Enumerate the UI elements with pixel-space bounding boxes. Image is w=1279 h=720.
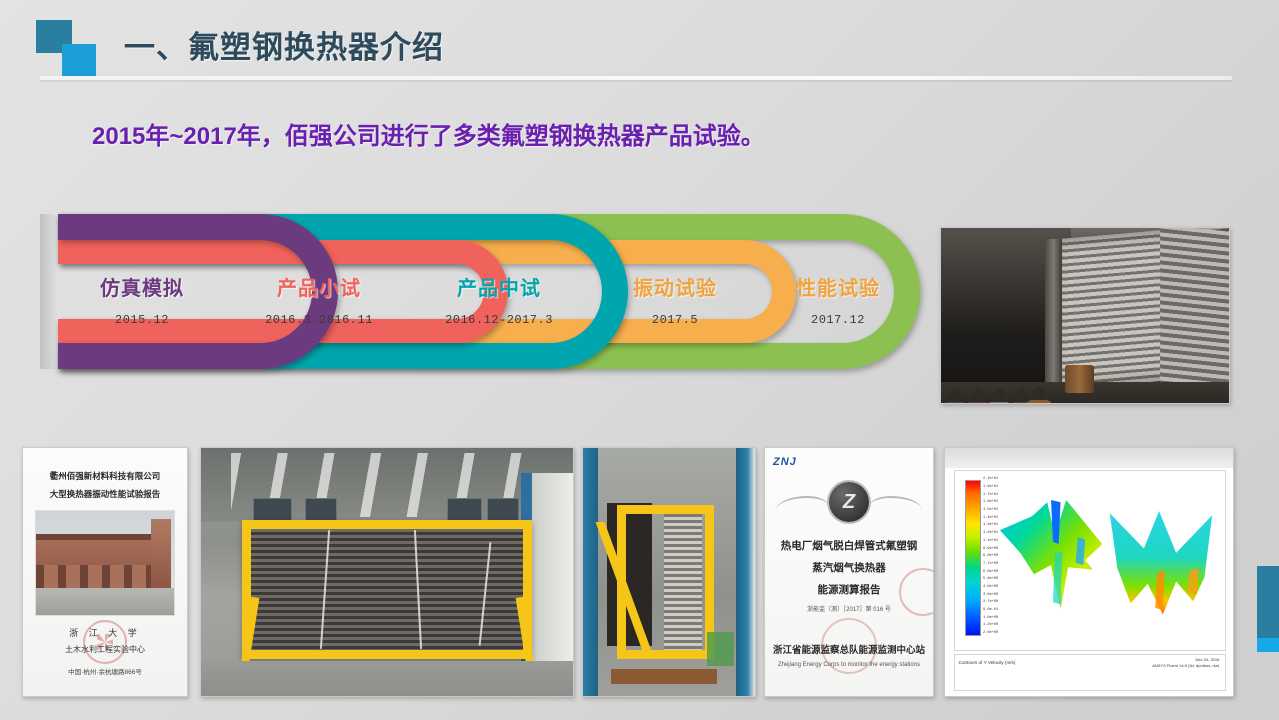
flow-step-4-label: 振动试验	[595, 272, 755, 301]
cfd-tick: 9.0e-01	[983, 609, 998, 613]
photo-inspection-exchanger-plates-2	[1160, 227, 1229, 400]
edge-accent-teal	[1257, 566, 1279, 638]
cfd-tick: 1.6e+01	[983, 501, 998, 505]
photo-rig-side-door-left	[583, 448, 598, 696]
cfd-footer-meta: Dec 20, 2016 ANSYS Fluent 14.5 (3d, dp/d…	[1152, 657, 1219, 669]
cfd-tick: 9.9e+00	[983, 548, 998, 552]
photo-rig-wide-exchanger-frame	[242, 520, 532, 659]
energy-report-medal-letter: Z	[829, 482, 869, 522]
cfd-panel-left	[998, 493, 1112, 632]
cfd-tick: 2.0e+00	[983, 632, 998, 636]
header-square-light-icon	[62, 44, 96, 76]
cfd-tick: 2.7e+00	[983, 601, 998, 605]
energy-report-org-cn: 浙江省能源监察总队能源监测中心站	[765, 642, 933, 656]
energy-report-medal-icon: Z	[829, 482, 869, 522]
vibration-report-address: 中国·杭州·余杭塘路866号	[23, 666, 187, 676]
vibration-report-cover-photo	[35, 510, 175, 616]
cfd-tick: 5.6e+00	[983, 578, 998, 582]
photo-rig-wide[interactable]	[200, 447, 574, 697]
cfd-tick: 1.4e+01	[983, 517, 998, 521]
energy-report-org-en: Zhejiang Energy Corps to monitor the ene…	[765, 662, 933, 668]
flow-step-5-label: 性能试验	[758, 272, 918, 301]
slide-root: 一、氟塑钢换热器介绍 2015年~2017年，佰强公司进行了多类氟塑钢换热器产品…	[0, 0, 1279, 720]
photo-rig-side-green-floor	[707, 632, 735, 667]
cfd-tick: 7.7e+00	[983, 563, 998, 567]
chart-cfd-velocity-contours[interactable]: 2.2e+01 1.9e+01 1.7e+01 1.6e+01 1.5e+01 …	[944, 447, 1234, 697]
cfd-tick: 1.0e+00	[983, 617, 998, 621]
photo-rig-side[interactable]	[582, 447, 756, 697]
flow-left-shadow	[40, 214, 58, 369]
process-flow-diagram: 仿真模拟 2015.12 产品小试 2016.3-2016.11 产品中试 20…	[40, 214, 920, 369]
cfd-colorbar	[965, 480, 981, 636]
cfd-plot-area: 2.2e+01 1.9e+01 1.7e+01 1.6e+01 1.5e+01 …	[954, 470, 1227, 651]
cfd-tick: 1.2e+00	[983, 624, 998, 628]
flow-step-3-date: 2016.12-2017.3	[410, 313, 588, 327]
cfd-tick: 1.5e+01	[983, 509, 998, 513]
energy-report-line1: 热电厂烟气脱白焊管式氟塑钢	[765, 538, 933, 553]
flow-step-5-date: 2017.12	[758, 313, 918, 327]
photo-rig-side-base	[611, 669, 718, 684]
cfd-tick: 1.1e+01	[983, 540, 998, 544]
photo-rig-wide-floor	[201, 661, 573, 696]
cfd-tick: 2.2e+01	[983, 478, 998, 482]
document-energy-report[interactable]: ZNJ Z 热电厂烟气脱白焊管式氟塑钢 蒸汽烟气换热器 能源测算报告 浙能监（测…	[764, 447, 934, 697]
flow-step-2-label: 产品小试	[230, 272, 408, 301]
cfd-tick: 1.9e+01	[983, 486, 998, 490]
flow-step-2-date: 2016.3-2016.11	[230, 313, 408, 327]
document-vibration-report[interactable]: 衢州佰强新材料科技有限公司 大型换热器振动性能试验报告 浙 江 大 学 土木水利…	[22, 447, 188, 697]
flow-step-3-label: 产品中试	[410, 272, 588, 301]
flow-step-1[interactable]: 仿真模拟 2015.12	[62, 272, 222, 327]
photo-rig-wide-door-panel	[528, 473, 573, 666]
cfd-tick: 4.9e+00	[983, 586, 998, 590]
cfd-tick: 6.6e+00	[983, 571, 998, 575]
cfd-tick: 9.0e+00	[983, 555, 998, 559]
flow-step-1-label: 仿真模拟	[62, 272, 222, 301]
page-title: 一、氟塑钢换热器介绍	[124, 22, 444, 67]
photo-rig-side-door-right	[736, 448, 755, 696]
cfd-footer-solver: ANSYS Fluent 14.5 (3d, dp/dbns, rke)	[1152, 663, 1219, 669]
flow-step-2[interactable]: 产品小试 2016.3-2016.11	[230, 272, 408, 327]
edge-accent-blue	[1257, 638, 1279, 652]
cfd-footer: Contours of Y Velocity (m/s) Dec 20, 201…	[954, 654, 1227, 691]
cfd-caption: Contours of Y Velocity (m/s)	[959, 660, 1016, 665]
vibration-report-center: 土木水利工程实验中心	[23, 644, 187, 655]
vibration-report-title: 大型换热器振动性能试验报告	[23, 488, 187, 500]
cfd-titlebar	[945, 448, 1233, 468]
energy-report-ornament-icon: Z	[774, 482, 924, 524]
flow-step-1-date: 2015.12	[62, 313, 222, 327]
cfd-panel-right	[1106, 500, 1220, 632]
flow-step-5[interactable]: 性能试验 2017.12	[758, 272, 918, 327]
cfd-tick: 1.7e+01	[983, 494, 998, 498]
cfd-tick: 1.3e+01	[983, 524, 998, 528]
vibration-report-org: 浙 江 大 学	[23, 626, 187, 639]
cfd-colorbar-ticks: 2.2e+01 1.9e+01 1.7e+01 1.6e+01 1.5e+01 …	[983, 478, 998, 635]
flow-step-3[interactable]: 产品中试 2016.12-2017.3	[410, 272, 588, 327]
flow-step-4[interactable]: 振动试验 2017.5	[595, 272, 755, 327]
cfd-tick: 3.6e+00	[983, 594, 998, 598]
vibration-report-company: 衢州佰强新材料科技有限公司	[23, 470, 187, 482]
photo-inspection-drum	[1065, 365, 1094, 393]
flow-step-4-date: 2017.5	[595, 313, 755, 327]
cfd-tick: 1.2e+01	[983, 532, 998, 536]
energy-report-brand: ZNJ	[773, 456, 797, 468]
subtitle-text: 2015年~2017年，佰强公司进行了多类氟塑钢换热器产品试验。	[92, 116, 765, 151]
photo-inspection-post	[1045, 239, 1062, 386]
photo-inspection[interactable]	[940, 227, 1230, 404]
header-divider	[40, 76, 1232, 80]
